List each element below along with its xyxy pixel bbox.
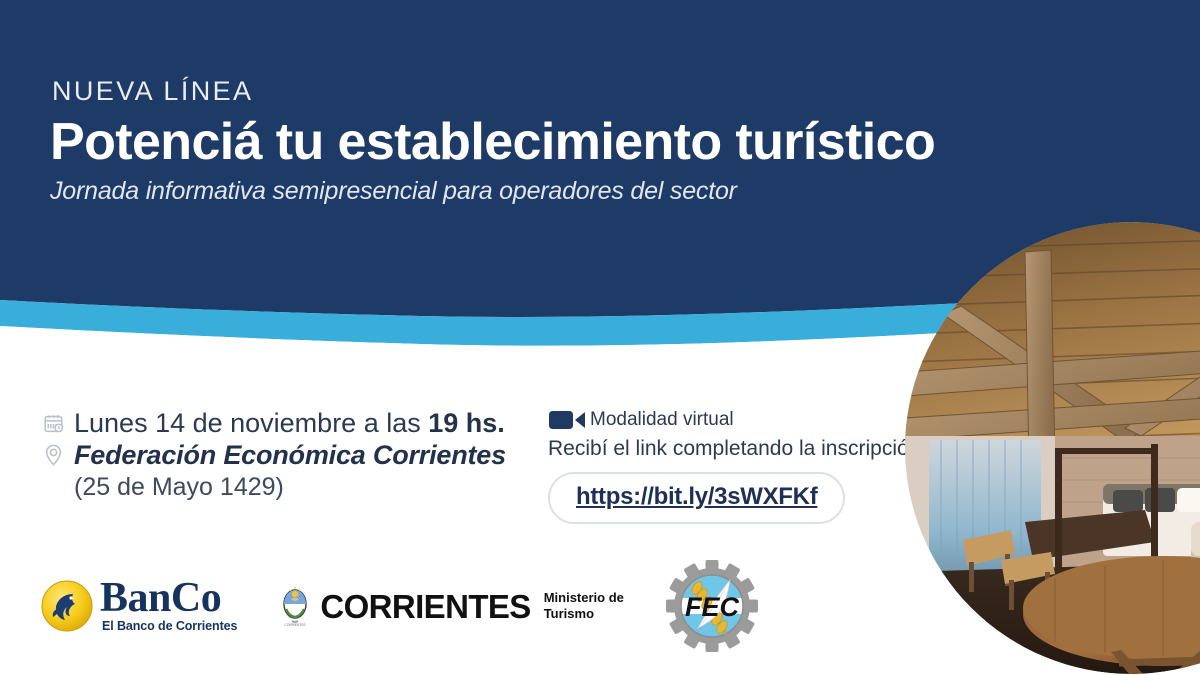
event-date-text: Lunes 14 de noviembre a las 19 hs. <box>74 408 505 438</box>
modality-label: Modalidad virtual <box>590 409 734 431</box>
sponsor-logos: BanCo El Banco de Corrientes CORRIENTES <box>40 558 760 654</box>
map-pin-icon <box>40 440 66 470</box>
argentina-coat-of-arms-icon: CORRIENTES <box>279 585 311 627</box>
modality-row: Modalidad virtual <box>548 408 928 432</box>
event-address-text: (25 de Mayo 1429) <box>74 472 560 502</box>
calendar-clock-icon <box>40 408 66 438</box>
video-camera-icon <box>548 408 586 432</box>
logo-fec: FEC <box>664 558 760 654</box>
banco-word: BanCo <box>100 578 237 618</box>
logo-banco-corrientes: BanCo El Banco de Corrientes <box>40 578 237 634</box>
headline-block: NUEVA LÍNEA Potenciá tu establecimiento … <box>50 78 1170 206</box>
page-subtitle: Jornada informativa semipresencial para … <box>50 176 1170 206</box>
event-details: Lunes 14 de noviembre a las 19 hs. Feder… <box>40 408 560 502</box>
event-date-prefix: Lunes 14 de noviembre a las <box>74 408 428 438</box>
fec-acronym: FEC <box>685 592 740 622</box>
promotional-flyer: NUEVA LÍNEA Potenciá tu establecimiento … <box>0 0 1200 675</box>
kicker-text: NUEVA LÍNEA <box>52 78 1170 105</box>
event-time: 19 hs. <box>428 408 505 438</box>
banco-tagline: El Banco de Corrientes <box>102 620 237 634</box>
ministry-line-2: Turismo <box>544 606 594 621</box>
fec-gear-emblem-icon: FEC <box>666 560 758 652</box>
registration-link[interactable]: https://bit.ly/3sWXFKf <box>548 472 845 524</box>
ministry-line-1: Ministerio de <box>544 590 624 605</box>
event-date-row: Lunes 14 de noviembre a las 19 hs. <box>40 408 560 438</box>
page-title: Potenciá tu establecimiento turístico <box>50 115 1170 170</box>
banco-fish-emblem-icon <box>40 579 94 633</box>
registration-instruction: Recibí el link completando la inscripció… <box>548 436 928 462</box>
event-venue-row: Federación Económica Corrientes <box>40 440 560 470</box>
ministry-label: Ministerio de Turismo <box>544 590 624 623</box>
virtual-details: Modalidad virtual Recibí el link complet… <box>548 408 928 524</box>
corrientes-word: CORRIENTES <box>320 590 530 623</box>
banco-wordmark: BanCo El Banco de Corrientes <box>100 578 237 634</box>
event-venue-text: Federación Económica Corrientes <box>74 440 506 470</box>
svg-text:CORRIENTES: CORRIENTES <box>285 623 306 627</box>
logo-corrientes-turismo: CORRIENTES CORRIENTES Ministerio de Turi… <box>279 585 624 627</box>
